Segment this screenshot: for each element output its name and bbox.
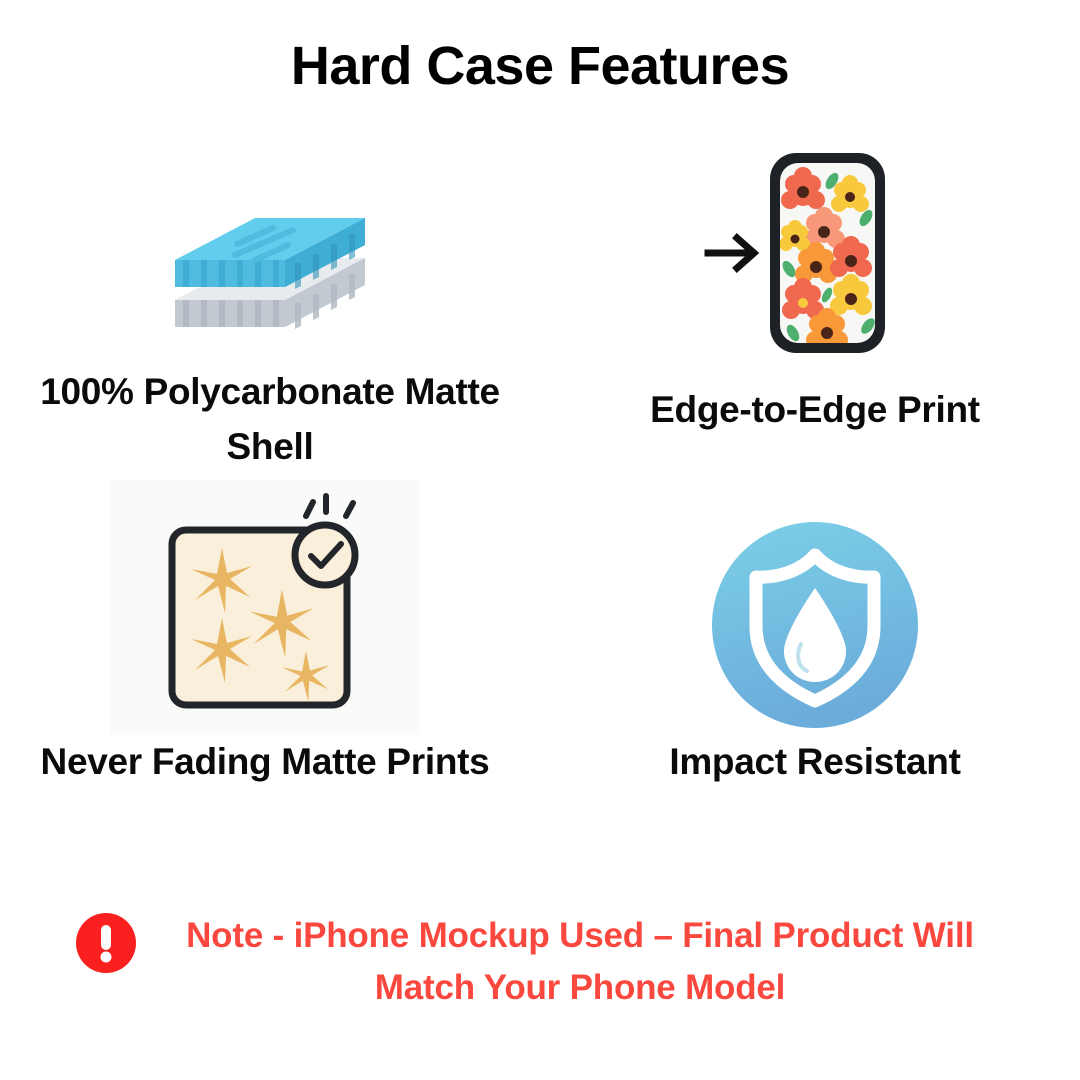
feature-never-fading: Never Fading Matte Prints — [15, 480, 515, 790]
feature-label-never-fading: Never Fading Matte Prints — [15, 735, 515, 790]
fade-proof-print-icon — [110, 480, 420, 735]
layered-slabs-art — [20, 160, 520, 365]
water-shield-art — [565, 520, 1065, 735]
sparkle-rays-icon — [306, 496, 353, 516]
note-text: Note - iPhone Mockup Used – Final Produc… — [155, 910, 1005, 1014]
feature-label-impact: Impact Resistant — [565, 735, 1065, 790]
page-title: Hard Case Features — [0, 38, 1080, 95]
floral-phone-art — [565, 128, 1065, 383]
exclamation-circle-icon — [75, 912, 137, 974]
water-shield-icon — [710, 520, 920, 730]
note-banner: Note - iPhone Mockup Used – Final Produc… — [60, 910, 1020, 1014]
fade-proof-art — [110, 480, 420, 735]
feature-edge-print: Edge-to-Edge Print — [565, 128, 1065, 438]
feature-impact-resistant: Impact Resistant — [565, 520, 1065, 790]
feature-label-edge-print: Edge-to-Edge Print — [565, 383, 1065, 438]
check-badge-icon — [295, 496, 355, 585]
feature-polycarbonate: 100% Polycarbonate Matte Shell — [20, 160, 520, 475]
floral-phone-case-icon — [690, 128, 940, 378]
feature-label-polycarbonate: 100% Polycarbonate Matte Shell — [20, 365, 520, 475]
arrow-right-icon — [708, 238, 754, 268]
layered-slabs-icon — [145, 160, 395, 360]
